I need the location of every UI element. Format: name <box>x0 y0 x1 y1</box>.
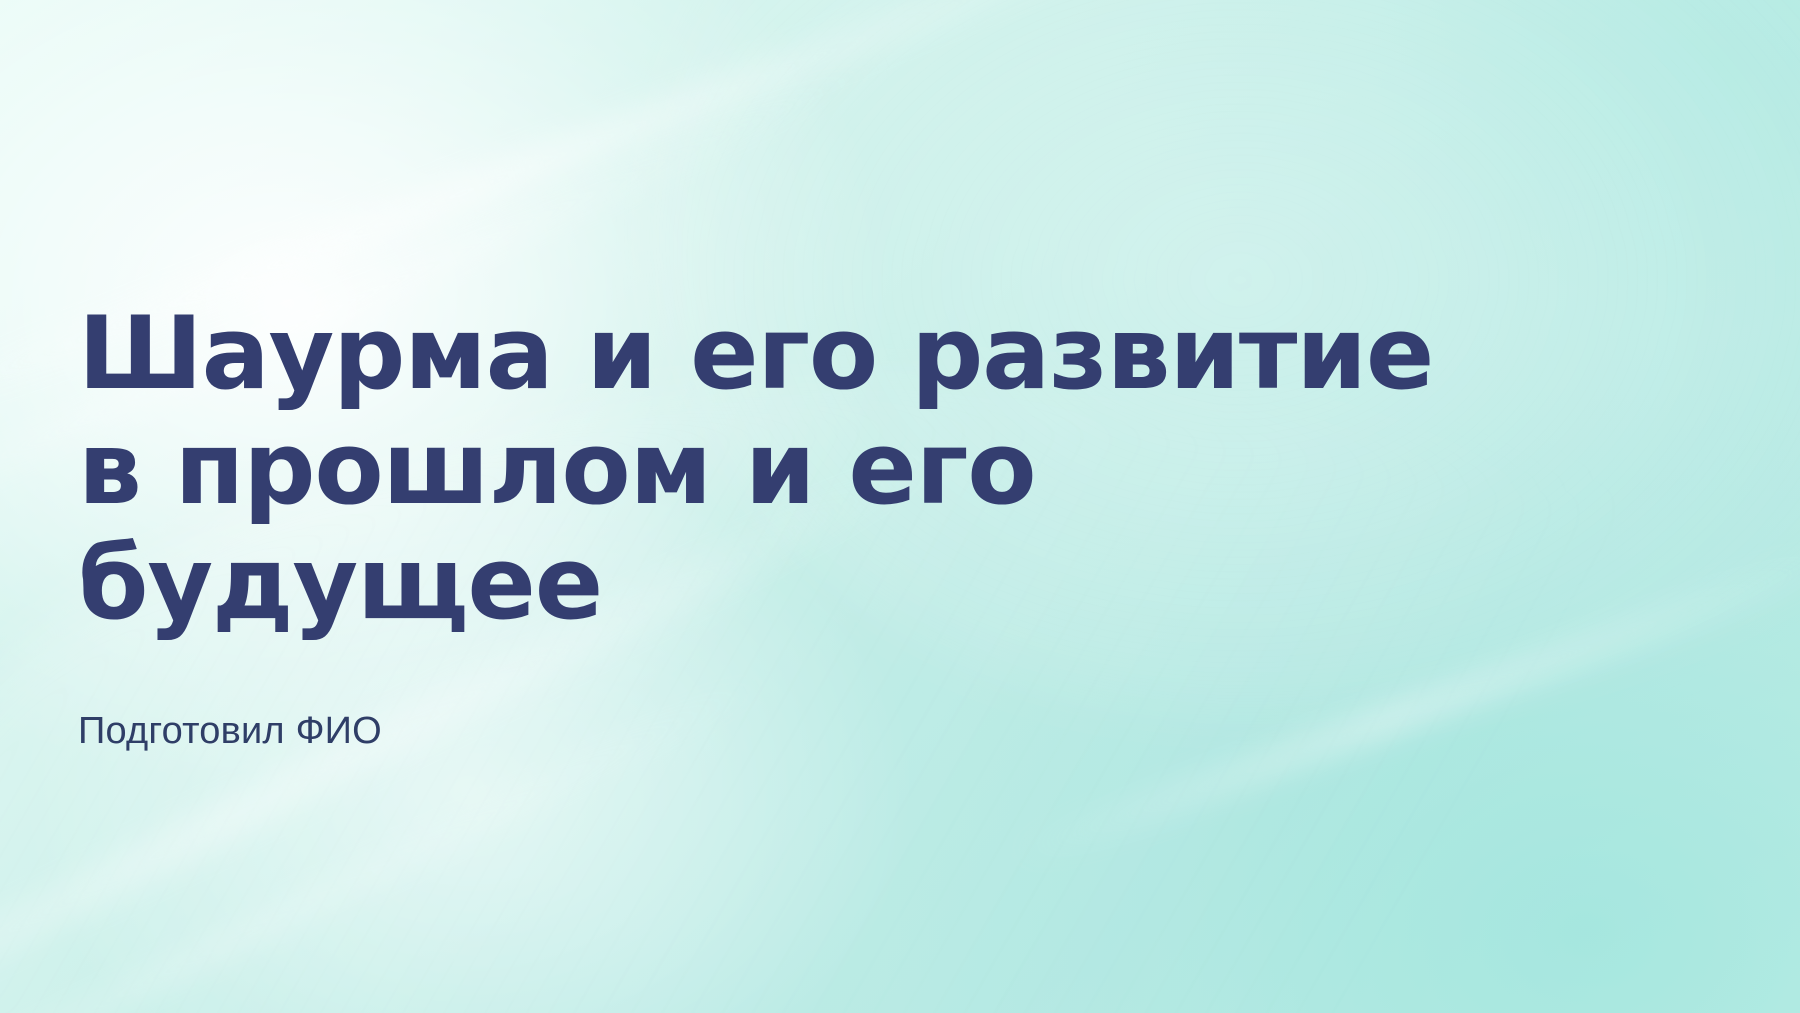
slide-subtitle: Подготовил ФИО <box>78 641 1508 755</box>
slide-title: Шаурма и его развитие в прошлом и его бу… <box>78 296 1508 641</box>
title-block: Шаурма и его развитие в прошлом и его бу… <box>78 296 1508 755</box>
title-slide: Шаурма и его развитие в прошлом и его бу… <box>0 0 1800 1013</box>
